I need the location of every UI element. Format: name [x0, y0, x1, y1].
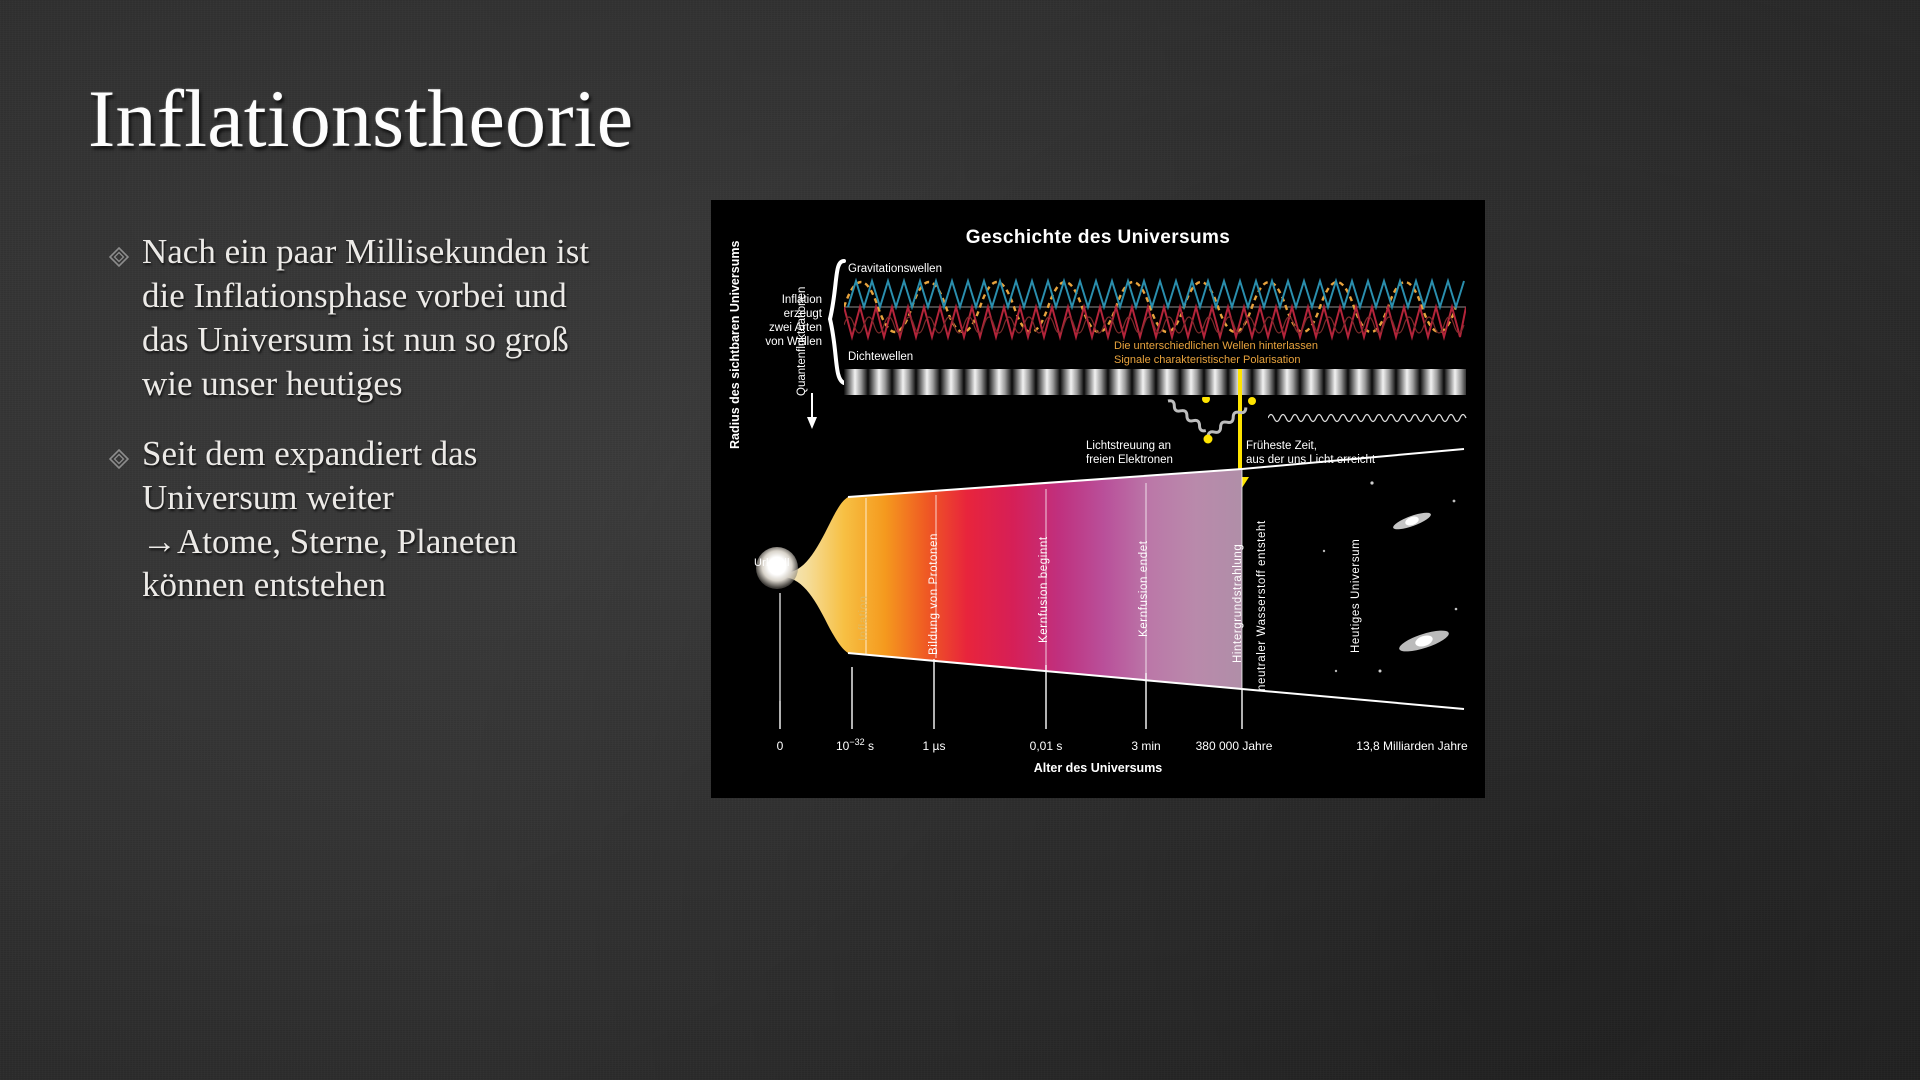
presentation-slide: Inflationstheorie Nach ein paar Millisek… — [0, 0, 1920, 1080]
light-scattering-label: Lichtstreuung an freien Elektronen — [1086, 439, 1173, 468]
x-tick-label: 1 µs — [923, 739, 946, 753]
density-waves-label: Dichtewellen — [848, 351, 913, 363]
universe-history-figure: Geschichte des Universums Inflation erze… — [712, 201, 1484, 797]
diamond-bullet-icon — [108, 432, 142, 470]
inflation-brace-label: Inflation erzeugt zwei Arten von Wellen — [742, 293, 822, 349]
x-tick-suffix: s — [865, 739, 874, 753]
earliest-light-label: Früheste Zeit, aus der uns Licht erreich… — [1246, 439, 1375, 468]
x-tick-label: 3 min — [1131, 739, 1160, 753]
x-tick-text: 3 min — [1131, 739, 1160, 753]
list-item-line: →Atome, Sterne, Planeten — [142, 520, 688, 564]
list-item: Seit dem expandiert das Universum weiter… — [108, 432, 688, 608]
list-item-line: das Universum ist nun so groß — [142, 318, 688, 362]
bullet-list: Nach ein paar Millisekunden ist die Infl… — [108, 230, 688, 633]
page-title: Inflationstheorie — [88, 78, 633, 160]
era-label-neutraler-wasserstoff: neutraler Wasserstoff entsteht — [1256, 520, 1268, 691]
era-label-inflation: Inflation — [858, 595, 870, 641]
photon-ripple-icon — [1268, 407, 1468, 429]
x-tick-text: 13,8 Milliarden Jahre — [1356, 739, 1467, 753]
list-item-line: können entstehen — [142, 563, 688, 607]
y-axis-title: Radius des sichtbaren Universums — [728, 201, 742, 449]
list-item-line: Universum weiter — [142, 476, 688, 520]
x-tick-label: 380 000 Jahre — [1196, 739, 1273, 753]
list-item-line: Nach ein paar Millisekunden ist — [142, 230, 688, 274]
x-tick-label: 13,8 Milliarden Jahre — [1356, 739, 1467, 753]
x-tick-label: 0,01 s — [1030, 739, 1063, 753]
list-item-text: Nach ein paar Millisekunden ist die Infl… — [142, 230, 688, 406]
list-item-line: wie unser heutiges — [142, 362, 688, 406]
era-label-bildung-von-protonen: Bildung von Protonen — [928, 533, 940, 655]
gravitational-waves-label: Gravitationswellen — [848, 263, 942, 275]
list-item-text: Seit dem expandiert das Universum weiter… — [142, 432, 688, 608]
quantum-fluctuations-label: Quantenfluktuationen — [796, 287, 808, 396]
quantum-fluctuations-arrow-icon — [804, 393, 820, 429]
list-item-line: Seit dem expandiert das — [142, 432, 688, 476]
era-label-heutiges-universum: Heutiges Universum — [1350, 539, 1362, 653]
polarisation-note: Die unterschiedlichen Wellen hinterlasse… — [1114, 339, 1318, 368]
x-tick-text: 10 — [836, 739, 849, 753]
era-label-hintergrundstrahlung: Hintergrundstrahlung — [1232, 544, 1244, 663]
density-wave-bar — [844, 369, 1466, 395]
x-tick-text: 1 µs — [923, 739, 946, 753]
x-tick-text: 380 000 Jahre — [1196, 739, 1273, 753]
list-item: Nach ein paar Millisekunden ist die Infl… — [108, 230, 688, 406]
era-label-kernfusion-beginnt: Kernfusion beginnt — [1038, 536, 1050, 643]
x-tick-label: 10−32 s — [836, 737, 874, 753]
x-axis-title: Alter des Universums — [712, 761, 1484, 775]
list-item-line: die Inflationsphase vorbei und — [142, 274, 688, 318]
big-bang-label: Urknall — [754, 557, 790, 569]
x-tick-text: 0,01 s — [1030, 739, 1063, 753]
curly-brace-icon — [824, 259, 846, 385]
figure-title: Geschichte des Universums — [712, 227, 1484, 249]
x-tick-exponent: −32 — [849, 737, 864, 747]
era-label-kernfusion-endet: Kernfusion endet — [1138, 540, 1150, 637]
cmb-arrow-head — [1231, 477, 1249, 491]
diamond-bullet-icon — [108, 230, 142, 268]
gravitational-waves-plot — [844, 263, 1466, 351]
x-tick-text: 0 — [777, 739, 784, 753]
x-tick-label: 0 — [777, 739, 784, 753]
